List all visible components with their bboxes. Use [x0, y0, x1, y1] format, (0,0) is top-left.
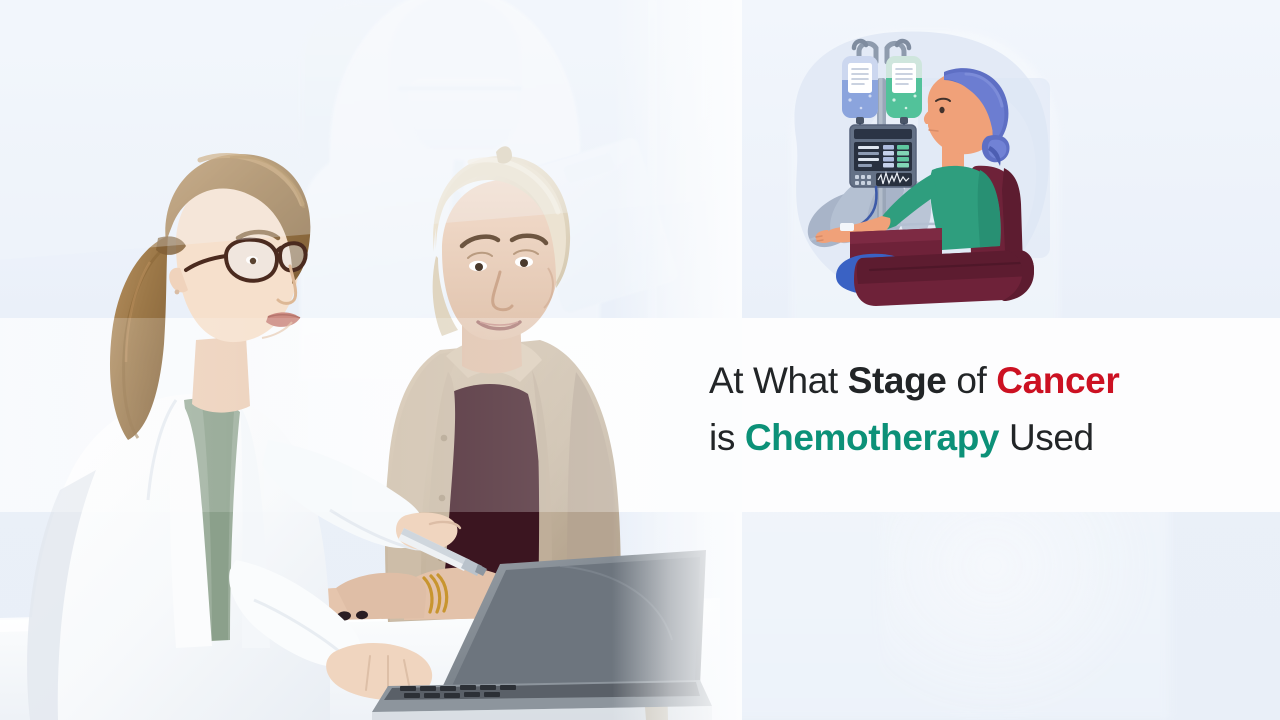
headline-seg-is: is [709, 417, 745, 458]
patient-eye-left [475, 263, 483, 271]
headline-line-2: is Chemotherapy Used [709, 409, 1269, 466]
doctor-eye [250, 258, 256, 264]
headline-seg-used: Used [999, 417, 1094, 458]
headline-seg-stage: Stage [848, 360, 947, 401]
headline-line-1: At What Stage of Cancer [709, 352, 1269, 409]
banner-stage: At What Stage of Cancer is Chemotherapy … [0, 0, 1280, 720]
patient-eye-right [520, 259, 528, 267]
iv-bag-blue-icon [842, 56, 878, 124]
chemotherapy-illustration [766, 18, 1066, 318]
ghost-highlight [880, 500, 1160, 720]
iv-cannula-patch [840, 223, 854, 231]
iv-bag-green-icon [886, 56, 922, 124]
doctor-neck [192, 336, 250, 413]
headline-seg-cancer: Cancer [996, 360, 1119, 401]
headline-seg-chemotherapy: Chemotherapy [745, 417, 999, 458]
page-title: At What Stage of Cancer is Chemotherapy … [709, 352, 1269, 466]
earring [175, 290, 180, 295]
headline-seg-of: of [946, 360, 996, 401]
patient-eye [939, 107, 944, 113]
headline-seg-at-what: At What [709, 360, 848, 401]
vital-signs-monitor-icon [850, 125, 916, 187]
doctor-patient-photo [0, 0, 720, 720]
